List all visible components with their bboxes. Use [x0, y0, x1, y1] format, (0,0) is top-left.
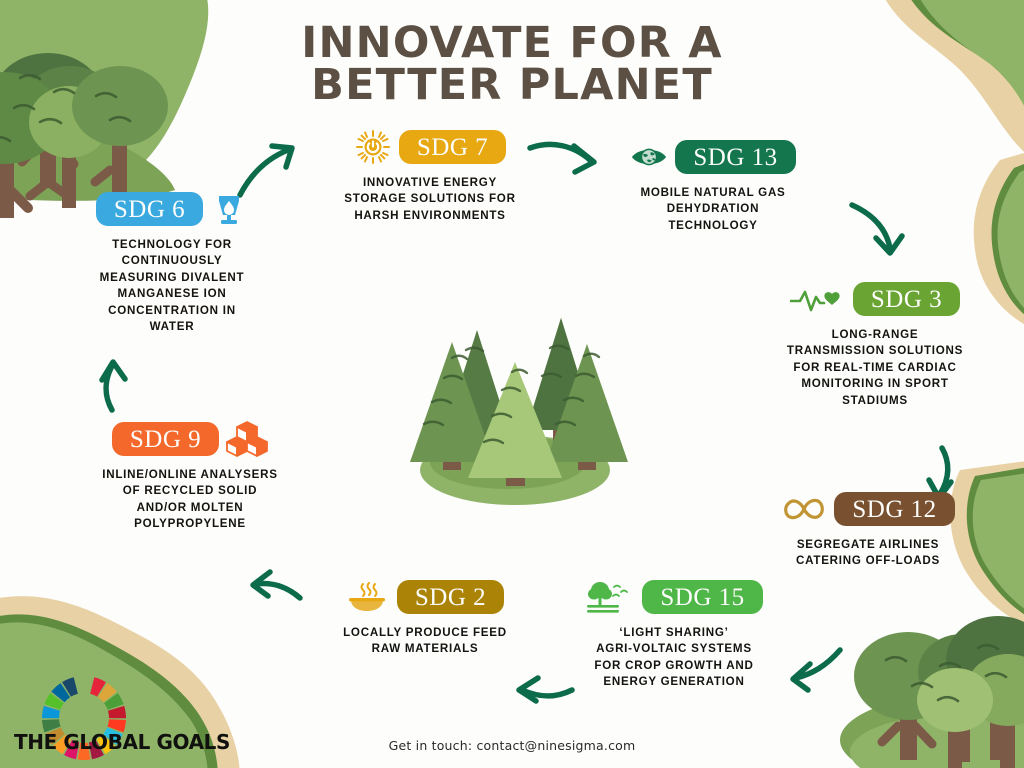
badge-sdg15[interactable]: SDG 15	[642, 580, 762, 614]
node-sdg2[interactable]: SDG 2 Locally produce feed raw materials	[320, 578, 530, 658]
central-forest-illustration	[410, 318, 628, 505]
eye-globe-icon	[630, 138, 668, 176]
badge-sdg9[interactable]: SDG 9	[112, 422, 219, 456]
heartbeat-icon	[790, 280, 846, 318]
node-sdg3[interactable]: SDG 3 Long-range transmission solutions …	[770, 280, 980, 409]
arrow-sdg9-to-sdg6	[102, 362, 125, 410]
infinity-loop-icon	[781, 490, 827, 528]
cubes-icon	[226, 420, 268, 458]
arrow-sdg6-to-sdg7	[240, 146, 292, 195]
arrow-sdg12-to-sdg15	[793, 650, 840, 690]
arrow-sdg15-to-sdg2	[519, 678, 572, 701]
water-tap-icon	[210, 190, 248, 228]
contact-footer: Get in touch: contact@ninesigma.com	[0, 738, 1024, 753]
description-sdg3: Long-range transmission solutions for re…	[770, 327, 980, 409]
landmass-top-left	[0, 0, 208, 201]
node-sdg13[interactable]: SDG 13 Mobile natural gas dehydration te…	[610, 138, 816, 234]
sun-icon	[354, 128, 392, 166]
badge-sdg3[interactable]: SDG 3	[853, 282, 960, 316]
description-sdg7: Innovative energy storage solutions for …	[325, 175, 535, 224]
badge-sdg6[interactable]: SDG 6	[96, 192, 203, 226]
description-sdg2: Locally produce feed raw materials	[320, 625, 530, 658]
arrow-sdg13-to-sdg3	[852, 205, 902, 253]
title-line-1: Innovate for a	[262, 22, 762, 64]
badge-sdg2[interactable]: SDG 2	[397, 580, 504, 614]
node-sdg12[interactable]: SDG 12 Segregate airlines catering off-l…	[762, 490, 974, 570]
node-sdg9[interactable]: SDG 9	[80, 420, 300, 533]
node-sdg6[interactable]: SDG 6 Technology for continuously measur…	[62, 190, 282, 336]
arrow-sdg2-to-sdg9	[253, 572, 300, 598]
arrow-sdg7-to-sdg13	[530, 144, 594, 172]
infographic-canvas: Innovate for a Better Planet SDG 6 Techn…	[0, 0, 1024, 768]
badge-sdg7[interactable]: SDG 7	[399, 130, 506, 164]
description-sdg9: Inline/online analysers of recycled soli…	[80, 467, 300, 533]
title-line-2: Better Planet	[262, 64, 762, 106]
description-sdg12: Segregate airlines catering off-loads	[762, 537, 974, 570]
description-sdg13: Mobile natural gas dehydration technolog…	[610, 185, 816, 234]
badge-sdg13[interactable]: SDG 13	[675, 140, 795, 174]
page-title: Innovate for a Better Planet	[262, 22, 762, 106]
food-bowl-icon	[346, 578, 390, 616]
badge-sdg12[interactable]: SDG 12	[834, 492, 954, 526]
description-sdg6: Technology for continuously measuring di…	[62, 237, 282, 336]
description-sdg15: ‘Light sharing’ agri-voltaic systems for…	[568, 625, 780, 691]
node-sdg15[interactable]: SDG 15 ‘Light sharing’ agri-voltaic syst…	[568, 578, 780, 691]
node-sdg7[interactable]: SDG 7 Innovative energy storage solution…	[325, 128, 535, 224]
tree-land-icon	[585, 578, 635, 616]
